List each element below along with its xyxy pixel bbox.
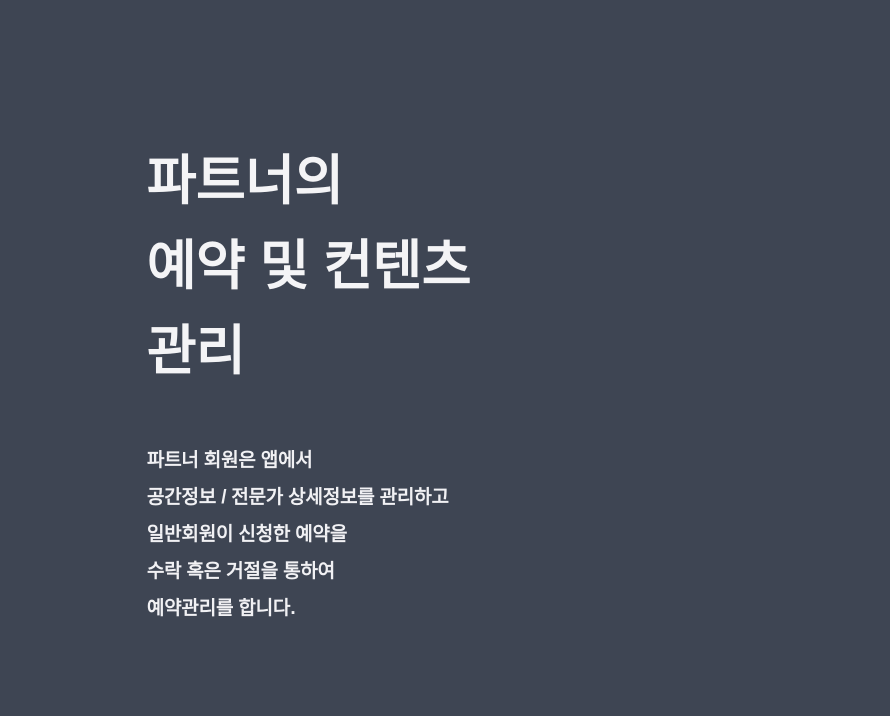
slide-canvas: 파트너의 예약 및 컨텐츠 관리 파트너 회원은 앱에서 공간정보 / 전문가 … [0, 0, 890, 716]
description-line-3: 일반회원이 신청한 예약을 [147, 516, 847, 553]
content-block: 파트너의 예약 및 컨텐츠 관리 파트너 회원은 앱에서 공간정보 / 전문가 … [147, 139, 847, 627]
headline-line-1: 파트너의 [147, 139, 847, 224]
page-title: 파트너의 예약 및 컨텐츠 관리 [147, 139, 847, 394]
headline-line-3: 관리 [147, 309, 847, 394]
headline-line-2: 예약 및 컨텐츠 [147, 224, 847, 309]
description-line-5: 예약관리를 합니다. [147, 590, 847, 627]
description-line-1: 파트너 회원은 앱에서 [147, 442, 847, 479]
description-line-4: 수락 혹은 거절을 통하여 [147, 553, 847, 590]
description-line-2: 공간정보 / 전문가 상세정보를 관리하고 [147, 479, 847, 516]
description-text: 파트너 회원은 앱에서 공간정보 / 전문가 상세정보를 관리하고 일반회원이 … [147, 442, 847, 627]
